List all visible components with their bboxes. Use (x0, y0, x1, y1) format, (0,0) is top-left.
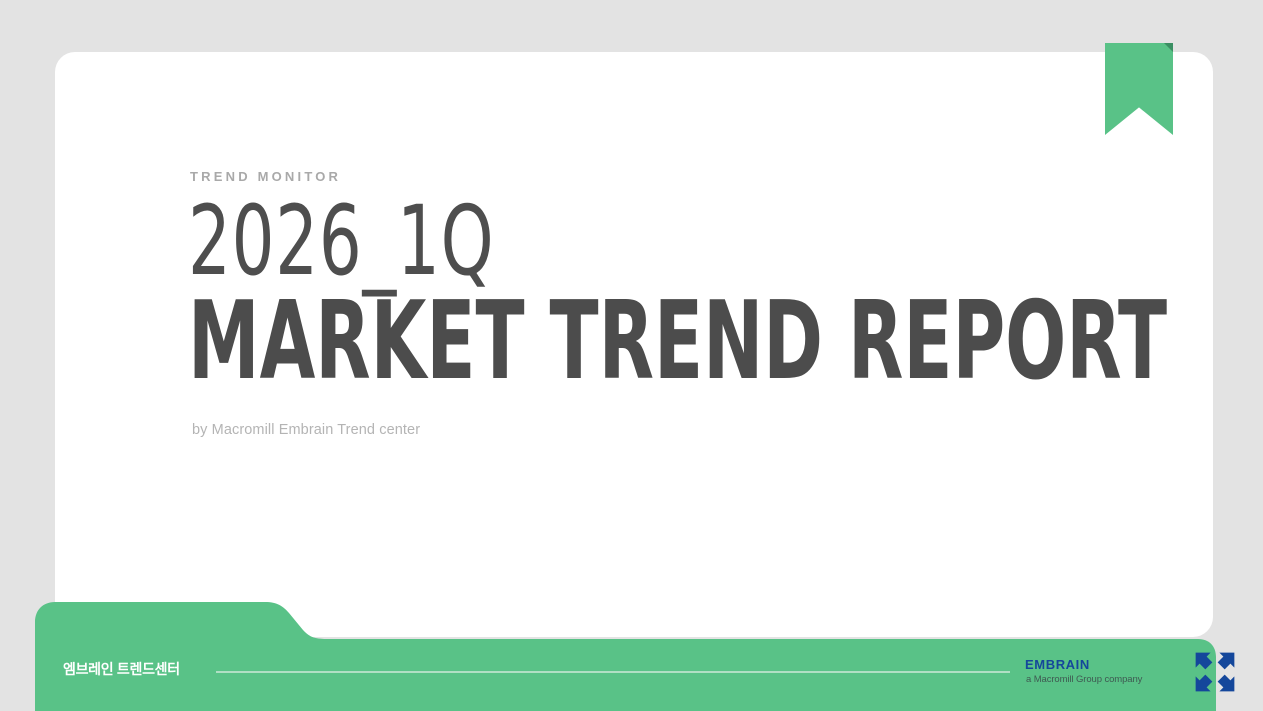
year-quarter-heading: 2026_1Q (188, 197, 890, 285)
slide-canvas: TREND MONITOR 2026_1Q MARKET TREND REPOR… (0, 0, 1263, 711)
footer-content: 엠브레인 트렌드센터 EMBRAIN a Macromill Group com… (35, 637, 1218, 711)
hero-block: TREND MONITOR 2026_1Q MARKET TREND REPOR… (188, 170, 1088, 438)
footer-bar: 엠브레인 트렌드센터 EMBRAIN a Macromill Group com… (35, 600, 1218, 711)
footer-brand-label: 엠브레인 트렌드센터 (63, 659, 180, 679)
bookmark-ribbon-body (1105, 43, 1173, 135)
four-arrows-expand-icon (1193, 650, 1237, 694)
eyebrow-label: TREND MONITOR (190, 170, 1088, 183)
embrain-tagline: a Macromill Group company (1026, 674, 1142, 685)
embrain-wordmark: EMBRAIN (1025, 653, 1090, 675)
embrain-logo: EMBRAIN a Macromill Group company (1025, 647, 1215, 699)
bookmark-ribbon (1105, 43, 1173, 135)
page-title: MARKET TREND REPORT (188, 291, 854, 394)
byline-text: by Macromill Embrain Trend center (192, 422, 1088, 438)
footer-divider (216, 671, 1010, 673)
